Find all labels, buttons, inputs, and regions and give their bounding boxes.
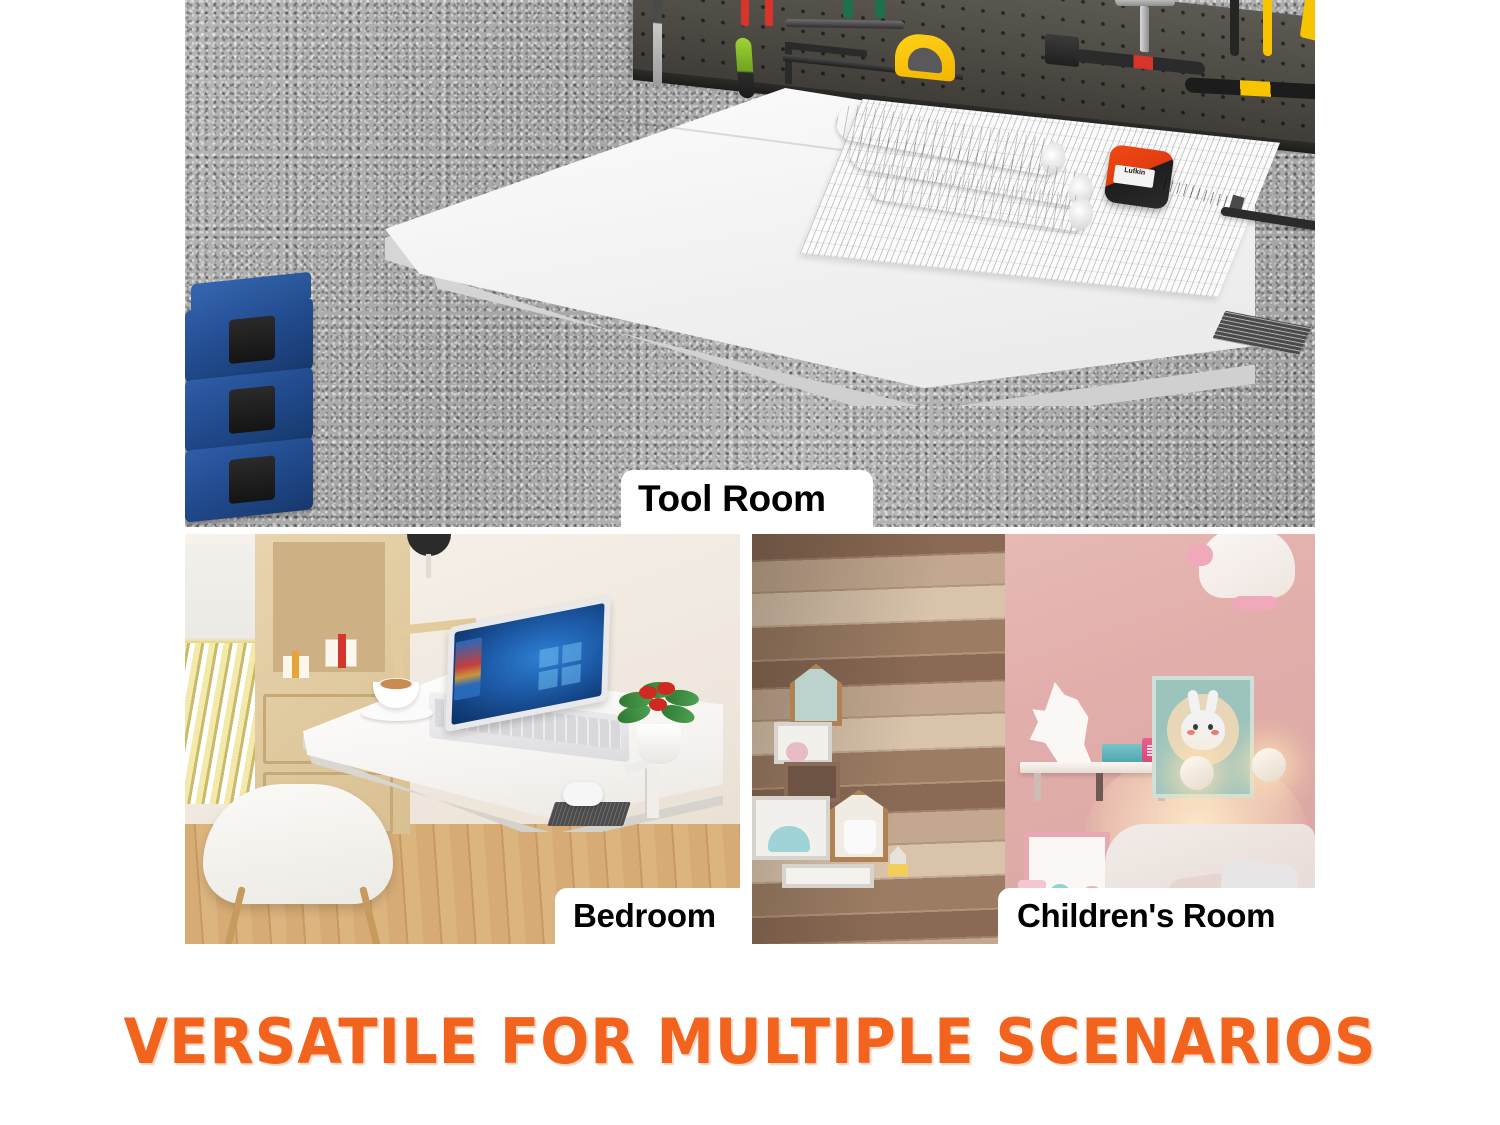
case-latch bbox=[229, 455, 275, 504]
case-latch bbox=[229, 315, 275, 364]
red-screwdriver-icon bbox=[765, 0, 773, 26]
label-bedroom: Bedroom bbox=[555, 888, 740, 944]
plant-flower bbox=[649, 698, 667, 711]
bunny-eye bbox=[1193, 724, 1198, 730]
low-cabinet bbox=[782, 864, 874, 888]
case-latch bbox=[229, 385, 275, 434]
yellow-tool-icon bbox=[1263, 0, 1272, 56]
bunny-cheek bbox=[1211, 730, 1219, 735]
black-rod-tool-icon bbox=[1230, 0, 1239, 56]
laptop-start-menu bbox=[454, 637, 482, 701]
bunny-face-icon bbox=[1181, 710, 1225, 750]
gift-box bbox=[283, 656, 309, 678]
plant-flower bbox=[657, 682, 675, 695]
pink-chair bbox=[1199, 534, 1295, 598]
green-tool-icon bbox=[843, 0, 853, 19]
panel-tool-room: Lufkin bbox=[185, 0, 1315, 527]
red-screwdriver-icon bbox=[741, 0, 749, 26]
shelf-bracket bbox=[1034, 773, 1041, 801]
shelf-hook bbox=[1096, 773, 1103, 801]
hacksaw-grip bbox=[895, 32, 955, 82]
product-feature-graphic: Lufkin bbox=[0, 0, 1500, 1125]
plant-flower bbox=[639, 686, 657, 699]
panel-bedroom bbox=[185, 534, 740, 944]
drill-bit-icon bbox=[653, 0, 662, 86]
green-tool-icon bbox=[875, 0, 885, 19]
tool-case bbox=[185, 437, 313, 522]
hammer-head bbox=[1045, 34, 1079, 68]
gift-box bbox=[325, 639, 357, 667]
stacked-tool-cases bbox=[185, 300, 320, 527]
pliers-handle bbox=[1185, 77, 1315, 99]
hacksaw-icon bbox=[895, 32, 1015, 109]
windows-logo-icon bbox=[538, 642, 581, 691]
bunny-eye bbox=[1208, 724, 1213, 730]
plant-pot bbox=[637, 724, 681, 764]
tape-measure: Lufkin bbox=[1103, 144, 1174, 210]
tape-measure-brand-label: Lufkin bbox=[1113, 165, 1155, 188]
toy-ring bbox=[786, 742, 808, 762]
bunny-cheek bbox=[1187, 730, 1195, 735]
label-childrens-room: Children's Room bbox=[998, 888, 1315, 944]
wall-sconce bbox=[1252, 748, 1286, 782]
fox-planter bbox=[844, 820, 876, 854]
toy-block bbox=[888, 864, 908, 876]
wall-bracket bbox=[645, 766, 659, 818]
laptop bbox=[447, 612, 609, 730]
panel-childrens-room bbox=[752, 534, 1315, 944]
bed bbox=[185, 544, 259, 804]
computer-mouse bbox=[563, 782, 603, 806]
headline-text: VERSATILE FOR MULTIPLE SCENARIOS bbox=[53, 1005, 1448, 1078]
desk-lamp-stem bbox=[426, 554, 431, 578]
wall-sconce bbox=[1180, 756, 1214, 790]
label-tool-room: Tool Room bbox=[621, 470, 873, 528]
